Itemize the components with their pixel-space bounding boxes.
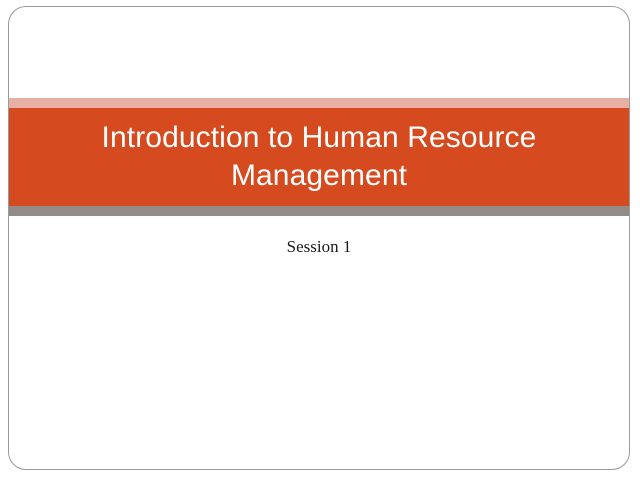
title-accent-bar-top: [9, 98, 629, 108]
page-title: Introduction to Human Resource Managemen…: [35, 119, 603, 195]
page-title-line-1: Introduction to Human Resource: [35, 119, 603, 157]
title-banner: Introduction to Human Resource Managemen…: [9, 108, 629, 206]
title-accent-bar-bottom: [9, 206, 629, 216]
slide-frame: Introduction to Human Resource Managemen…: [8, 6, 630, 470]
slide-body-area: [9, 265, 629, 469]
page-title-line-2: Management: [35, 157, 603, 195]
title-block: Introduction to Human Resource Managemen…: [9, 98, 629, 216]
slide-subtitle: Session 1: [9, 236, 629, 258]
